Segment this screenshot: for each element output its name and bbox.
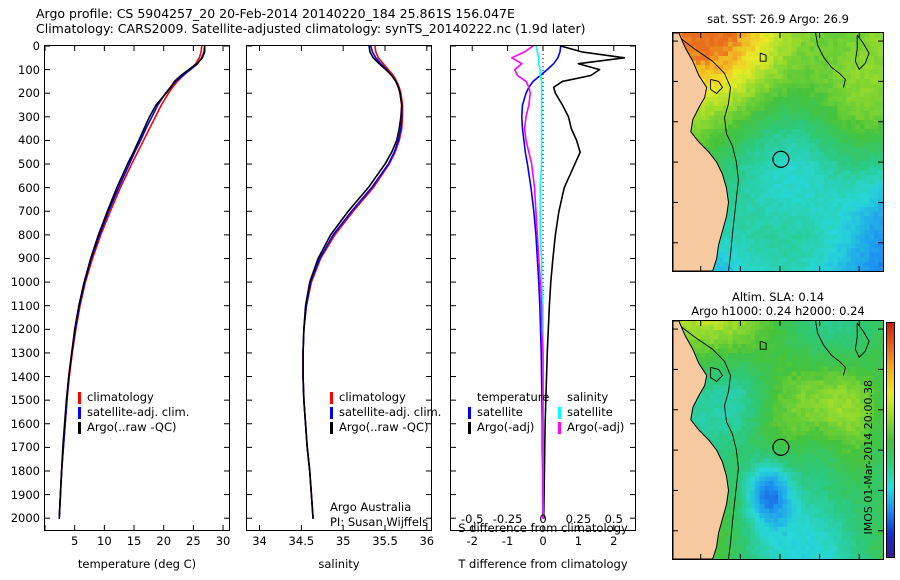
x-tick-label: 20: [156, 534, 171, 548]
title-line-2: Climatology: CARS2009. Satellite-adjuste…: [36, 21, 656, 36]
argo-program-line-1: Argo Australia: [330, 500, 428, 515]
depth-tick-label: 1700: [11, 440, 40, 454]
legend-color-swatch: [468, 407, 471, 419]
series-line: [59, 46, 201, 518]
x-tick-label: 5: [71, 534, 78, 548]
x-tick-label: 35.5: [372, 534, 398, 548]
temperature-plot-area: [45, 46, 229, 530]
legend-label: Argo(-adj): [477, 420, 534, 435]
depth-tick-label: 1100: [11, 299, 40, 313]
legend-item: satellite: [558, 405, 624, 420]
x-tick-label: 2: [610, 534, 617, 548]
x-tick-label: 1: [575, 534, 582, 548]
salinity-difference-axis-title: S difference from climatology: [458, 521, 628, 535]
depth-tick-label: 1000: [11, 275, 40, 289]
temp-plot-svg: [45, 46, 229, 530]
depth-tick-label: 700: [18, 204, 40, 218]
legend-color-swatch: [78, 422, 81, 434]
legend-label: Argo(-adj): [567, 420, 624, 435]
sla-map-title-line-2: Argo h1000: 0.24 h2000: 0.24: [660, 304, 896, 318]
x-tick-label: 10: [97, 534, 112, 548]
imos-timestamp: IMOS 01-Mar-2014 20:00.38: [862, 380, 875, 535]
diff-plot-svg: [451, 46, 635, 530]
legend-label: satellite: [477, 405, 523, 420]
legend-item: climatology: [78, 390, 189, 405]
legend-item: Argo(..raw -QC): [78, 420, 189, 435]
sst-map[interactable]: 152154156158160-20-22-24-26-28-30: [672, 32, 884, 272]
temperature-axis-title: temperature (deg C): [78, 557, 196, 571]
depth-tick-label: 500: [18, 157, 40, 171]
legend-header-salinity: salinity: [558, 390, 624, 405]
series-line: [59, 46, 204, 518]
argo-program-note: Argo Australia PI: Susan Wijffels: [330, 500, 428, 530]
legend-color-swatch: [78, 407, 81, 419]
legend-label: climatology: [87, 390, 154, 405]
legend-color-swatch: [558, 407, 561, 419]
title-line-1: Argo profile: CS 5904257_20 20-Feb-2014 …: [36, 6, 656, 21]
legend-label: Argo(..raw -QC): [339, 420, 429, 435]
series-line: [303, 46, 402, 518]
depth-tick-label: 1600: [11, 417, 40, 431]
x-tick-label: 0: [539, 534, 546, 548]
salinity-profile-panel: 3434.53535.536: [246, 45, 432, 531]
depth-tick-label: 900: [18, 251, 40, 265]
legend-color-swatch: [330, 407, 333, 419]
series-line: [303, 46, 403, 518]
legend-item: climatology: [330, 390, 441, 405]
depth-tick-label: 2000: [11, 511, 40, 525]
series-line: [544, 46, 625, 518]
depth-tick-label: 200: [18, 86, 40, 100]
legend-label: climatology: [339, 390, 406, 405]
salinity-plot-area: [247, 46, 431, 530]
sst-map-title: sat. SST: 26.9 Argo: 26.9: [672, 12, 884, 26]
argo-pi-line: PI: Susan Wijffels: [330, 515, 428, 530]
legend-item: Argo(..raw -QC): [330, 420, 441, 435]
legend-item: satellite-adj. clim.: [78, 405, 189, 420]
depth-tick-label: 1400: [11, 370, 40, 384]
difference-profile-panel: -2-1012-0.5-0.2500.250.5: [450, 45, 636, 531]
x-tick-label: 15: [127, 534, 142, 548]
sal-plot-svg: [247, 46, 431, 530]
legend-item: Argo(-adj): [468, 420, 549, 435]
depth-tick-label: 300: [18, 110, 40, 124]
depth-tick-label: 100: [18, 63, 40, 77]
legend-color-swatch: [558, 422, 561, 434]
difference-legend-temperature: temperaturesatelliteArgo(-adj): [468, 390, 549, 435]
legend-header-temperature: temperature: [468, 390, 549, 405]
depth-tick-label: 1500: [11, 393, 40, 407]
salinity-axis-title: salinity: [318, 557, 359, 571]
figure-title: Argo profile: CS 5904257_20 20-Feb-2014 …: [36, 6, 656, 36]
depth-tick-label: 400: [18, 133, 40, 147]
depth-tick-label: 1200: [11, 322, 40, 336]
map-sst-field: [673, 33, 883, 271]
legend-label: satellite-adj. clim.: [87, 405, 189, 420]
colorbar: [886, 322, 895, 558]
map-sla-field: [673, 321, 883, 559]
depth-tick-label: 1300: [11, 346, 40, 360]
x-tick-label: -1: [502, 534, 513, 548]
temperature-legend: climatologysatellite-adj. clim.Argo(..ra…: [78, 390, 189, 435]
x-tick-label: 25: [186, 534, 201, 548]
salinity-legend: climatologysatellite-adj. clim.Argo(..ra…: [330, 390, 441, 435]
depth-tick-label: 1900: [11, 488, 40, 502]
depth-tick-label: 1800: [11, 464, 40, 478]
depth-tick-label: 600: [18, 181, 40, 195]
legend-color-swatch: [330, 422, 333, 434]
difference-legend-salinity: salinitysatelliteArgo(-adj): [558, 390, 624, 435]
x-tick-label: -2: [466, 534, 477, 548]
sla-map-title-line-1: Altim. SLA: 0.14: [672, 290, 884, 304]
legend-color-swatch: [330, 392, 333, 404]
x-tick-label: 34.5: [289, 534, 315, 548]
difference-plot-area: [451, 46, 635, 530]
legend-color-swatch: [468, 422, 471, 434]
legend-item: satellite: [468, 405, 549, 420]
legend-label: satellite-adj. clim.: [339, 405, 441, 420]
x-tick-label: 34: [252, 534, 267, 548]
sla-map[interactable]: 152154156158160-20-22-24-26-28-30: [672, 320, 884, 560]
x-tick-label: 30: [216, 534, 231, 548]
legend-label: satellite: [567, 405, 613, 420]
temperature-profile-panel: 0100200300400500600700800900100011001200…: [44, 45, 230, 531]
temperature-difference-axis-title: T difference from climatology: [458, 557, 627, 571]
depth-tick-label: 800: [18, 228, 40, 242]
legend-label: Argo(..raw -QC): [87, 420, 177, 435]
series-line: [303, 46, 402, 518]
x-tick-label: 36: [419, 534, 434, 548]
depth-tick-label: 0: [33, 39, 40, 53]
legend-item: satellite-adj. clim.: [330, 405, 441, 420]
series-line: [59, 46, 204, 518]
legend-item: Argo(-adj): [558, 420, 624, 435]
x-tick-label: 35: [336, 534, 351, 548]
legend-color-swatch: [78, 392, 81, 404]
